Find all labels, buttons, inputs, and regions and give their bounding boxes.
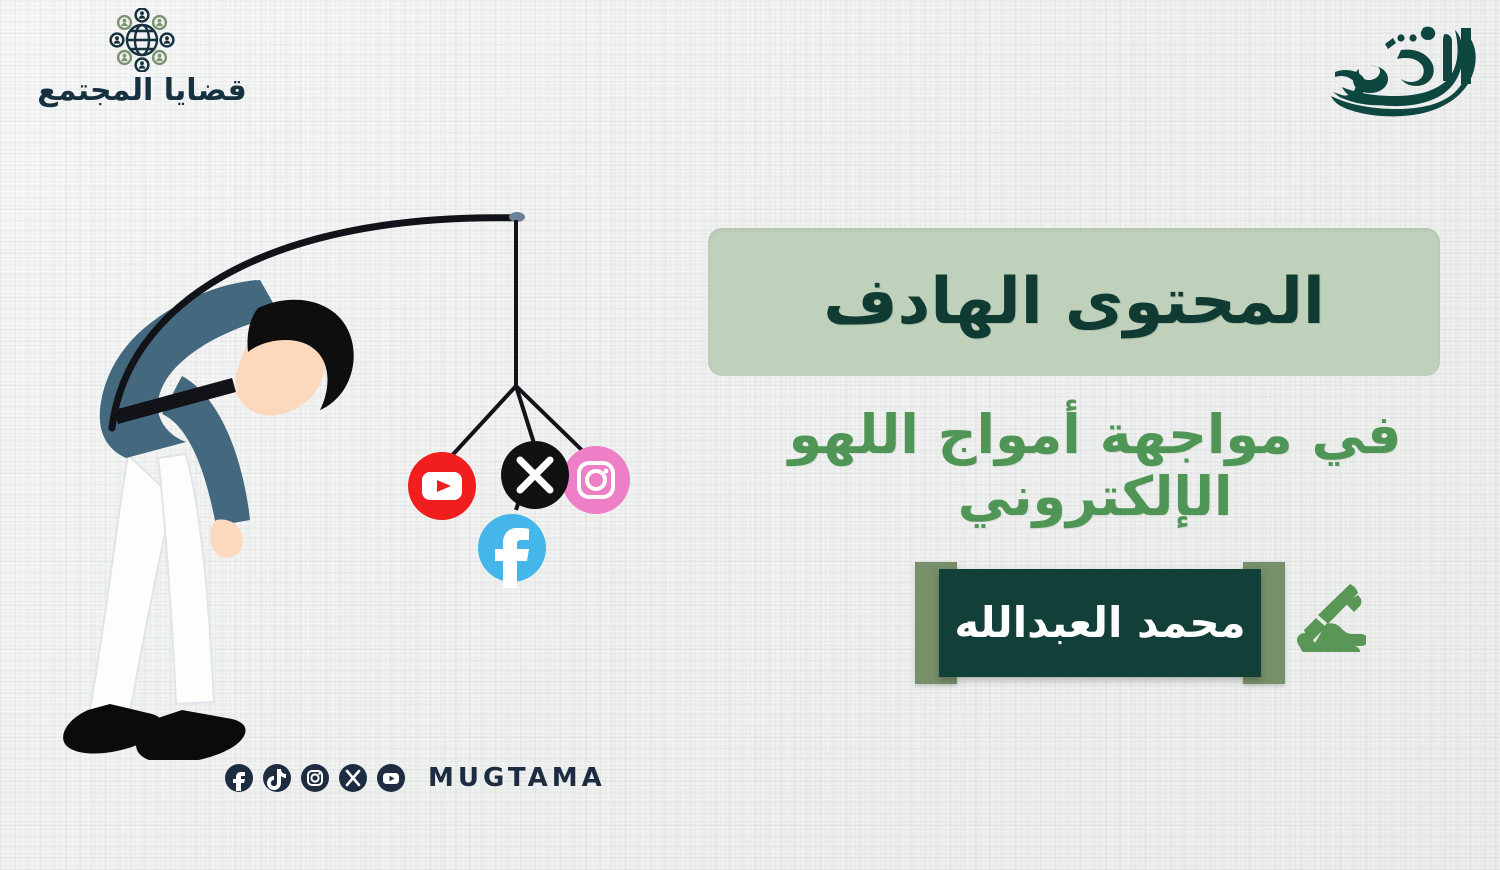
brand-block: قضايا المجتمع: [22, 8, 262, 107]
trousers: [86, 454, 214, 732]
globe-network-icon: [105, 8, 179, 72]
footer-brand-word: MUGTAMA: [428, 765, 606, 791]
facebook-bait: [478, 514, 546, 588]
author-ribbon: محمد العبدالله: [915, 562, 1285, 687]
mugtama-calligraphy-logo: [1305, 14, 1480, 119]
brand-name: قضايا المجتمع: [22, 74, 262, 107]
x-icon[interactable]: [338, 763, 368, 793]
poster-canvas: قضايا المجتمع: [0, 0, 1500, 870]
line-to-youtube: [446, 386, 516, 462]
masthead-logo: [1305, 14, 1480, 119]
instagram-icon[interactable]: [300, 763, 330, 793]
instagram-bait: [562, 446, 630, 514]
head: [236, 300, 354, 416]
youtube-bait: [408, 452, 476, 520]
bent-man-fishing-rod-illustration: [30, 190, 680, 760]
footer-social-bar: MUGTAMA: [224, 762, 606, 794]
youtube-icon[interactable]: [376, 763, 406, 793]
illustration: [30, 190, 680, 760]
tiktok-icon[interactable]: [262, 763, 292, 793]
page-subtitle: في مواجهة أمواج اللهو الإلكتروني: [700, 404, 1490, 528]
x-bait: [501, 441, 569, 509]
page-title: المحتوى الهادف: [823, 267, 1325, 337]
hand: [210, 519, 242, 557]
writing-hand-pen-icon: [1292, 578, 1366, 652]
ribbon-body: محمد العبدالله: [939, 569, 1261, 677]
shoes: [63, 704, 245, 760]
author-name: محمد العبدالله: [954, 602, 1245, 644]
facebook-icon[interactable]: [224, 763, 254, 793]
title-box: المحتوى الهادف: [708, 228, 1440, 376]
